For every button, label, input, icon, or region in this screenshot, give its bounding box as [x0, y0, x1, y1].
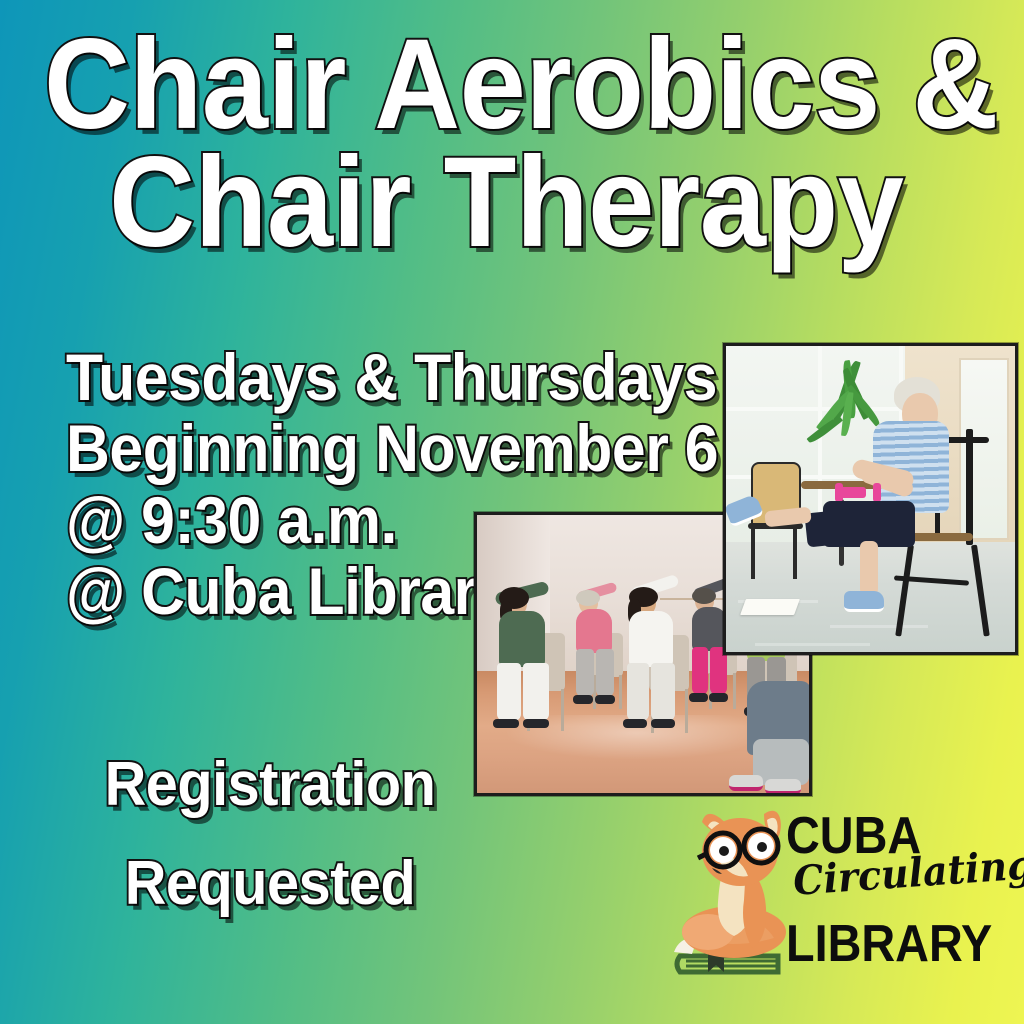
- logo-line-library: LIBRARY: [786, 918, 992, 970]
- exerciser-3: [619, 577, 691, 737]
- senior-woman-chair-exercise-photo: [723, 343, 1018, 655]
- registration-line-1: Registration: [84, 752, 456, 817]
- registration-line-2: Requested: [84, 851, 456, 916]
- library-logo: CUBA Circulating LIBRARY: [668, 806, 988, 986]
- fox-reading-icon: [668, 806, 796, 986]
- logo-wordmark: CUBA Circulating LIBRARY: [786, 810, 996, 986]
- flyer-poster: Chair Aerobics & Chair Therapy Tuesdays …: [0, 0, 1024, 1024]
- instructor-foreground: [719, 671, 812, 796]
- magazine-on-floor: [740, 599, 800, 615]
- pink-dumbbell: [840, 487, 866, 498]
- title-line-2: Chair Therapy: [44, 144, 807, 262]
- detail-line-days: Tuesdays & Thursdays: [66, 344, 718, 411]
- title-line-1: Chair Aerobics &: [44, 26, 807, 144]
- exerciser-1: [491, 577, 567, 737]
- page-title: Chair Aerobics & Chair Therapy: [44, 26, 864, 262]
- registration-note: Registration Requested: [70, 752, 470, 950]
- detail-line-start-date: Beginning November 6: [66, 415, 718, 482]
- blue-shoe-planted: [844, 591, 884, 612]
- seated-woman: [790, 377, 998, 646]
